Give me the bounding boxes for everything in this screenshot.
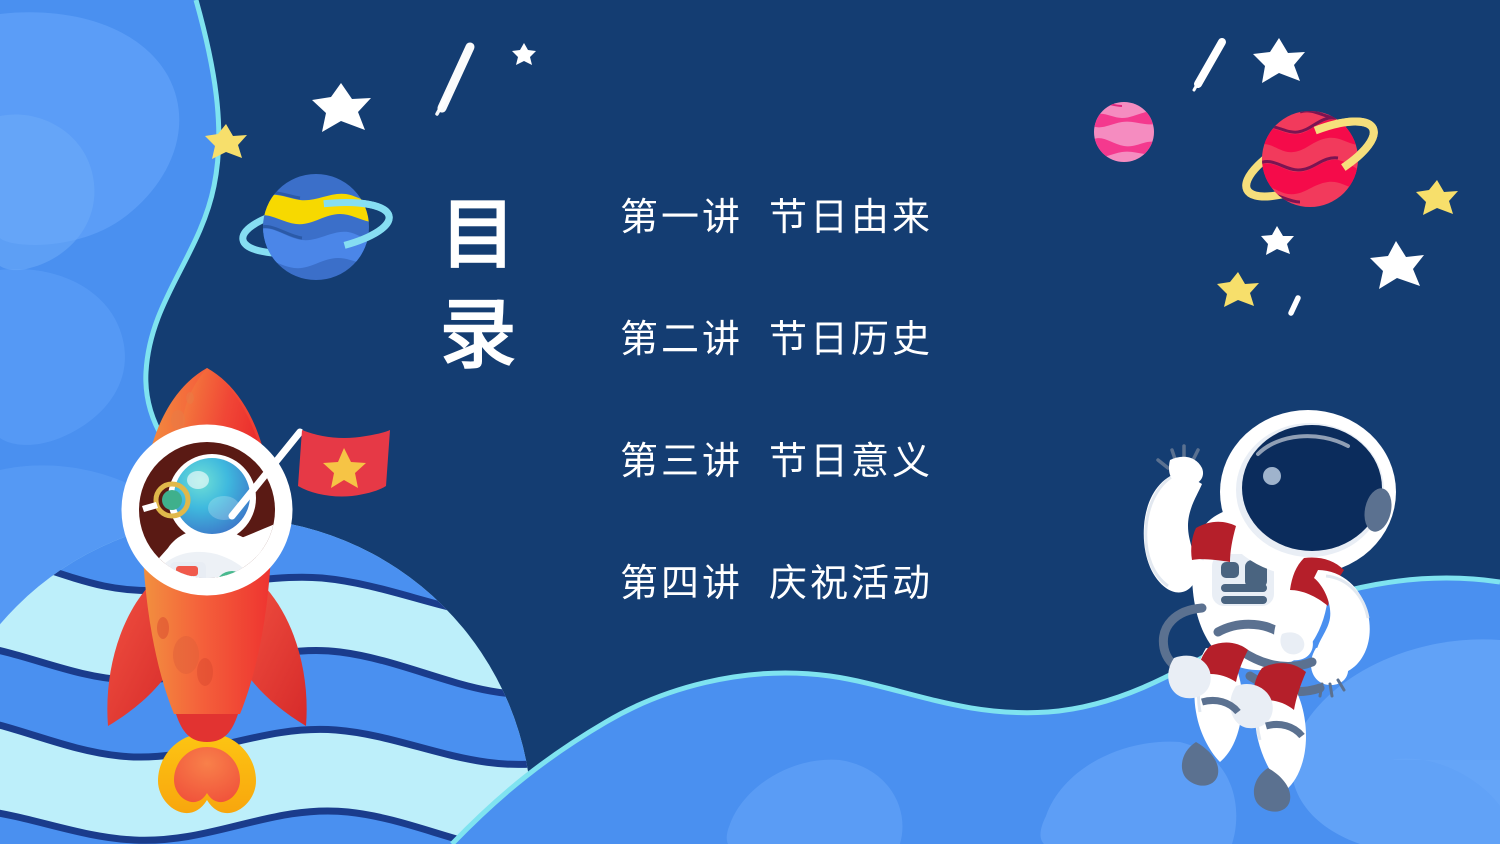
page-title-char-2: 录 xyxy=(424,286,534,386)
toc-item-4[interactable]: 第四讲 庆祝活动 xyxy=(620,552,1050,674)
toc-item-2[interactable]: 第二讲 节日历史 xyxy=(620,308,1050,430)
page-title: 目 录 xyxy=(424,186,534,387)
toc-item-3-label: 节日意义 xyxy=(769,430,933,485)
toc-item-2-index: 第二讲 xyxy=(620,308,743,363)
toc-item-4-label: 庆祝活动 xyxy=(769,552,933,607)
page-title-char-1: 目 xyxy=(424,186,534,286)
toc-item-1-index: 第一讲 xyxy=(620,186,743,241)
toc-menu: 第一讲 节日由来 第二讲 节日历史 第三讲 节日意义 第四讲 庆祝活动 xyxy=(620,186,1050,674)
toc-item-1-label: 节日由来 xyxy=(769,186,933,241)
slide-canvas: 目 录 第一讲 节日由来 第二讲 节日历史 第三讲 节日意义 第四讲 庆祝活动 xyxy=(0,0,1500,844)
toc-item-4-index: 第四讲 xyxy=(620,552,743,607)
floating-astronaut xyxy=(1144,410,1396,812)
toc-item-1[interactable]: 第一讲 节日由来 xyxy=(620,186,1050,308)
helmet xyxy=(1220,410,1396,574)
toc-item-3-index: 第三讲 xyxy=(620,430,743,485)
toc-item-3[interactable]: 第三讲 节日意义 xyxy=(620,430,1050,552)
toc-item-2-label: 节日历史 xyxy=(769,308,933,363)
